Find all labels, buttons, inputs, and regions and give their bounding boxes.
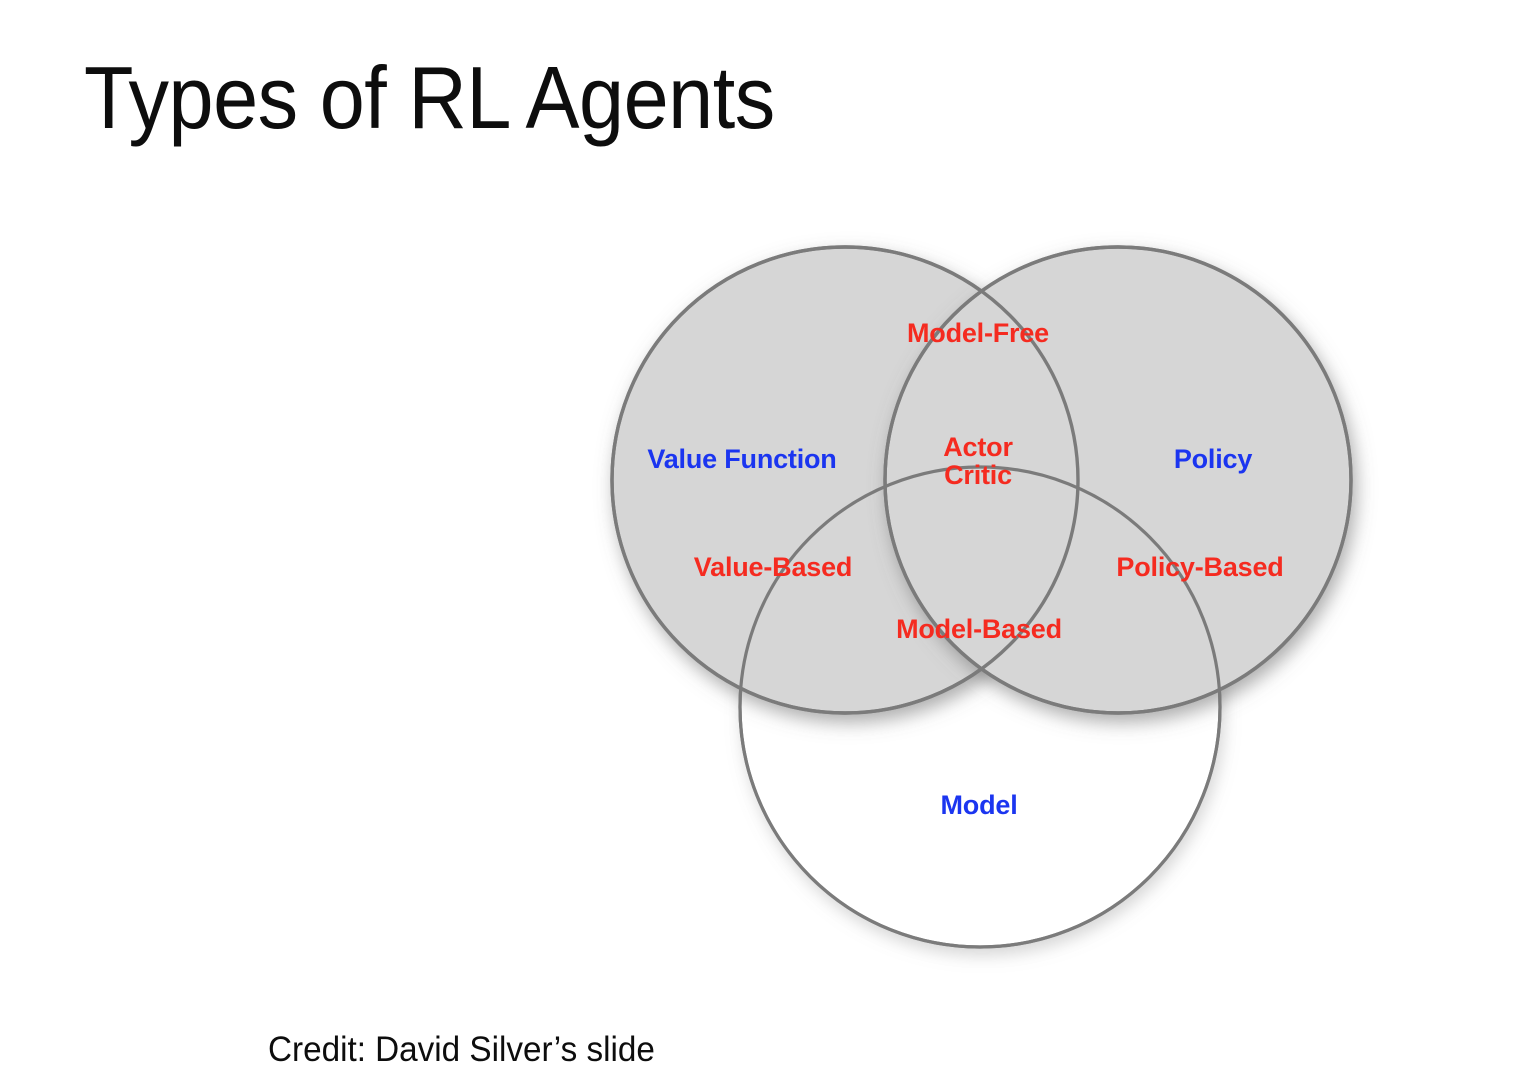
venn-label-actor-critic: ActorCritic [943,434,1013,490]
venn-label-policy-based: Policy-Based [1116,554,1283,582]
venn-label-model-free: Model-Free [907,320,1049,348]
credit-text: Credit: David Silver’s slide [268,1030,655,1070]
venn-diagram: Value Function Policy Model Model-Free A… [560,200,1420,1000]
venn-label-model: Model [941,792,1018,820]
slide-canvas: Types of RL Agents Value Function [0,0,1540,1074]
page-title: Types of RL Agents [84,52,775,144]
venn-label-value-function: Value Function [647,446,836,474]
venn-label-model-based: Model-Based [896,616,1062,644]
venn-label-policy: Policy [1174,446,1252,474]
venn-label-value-based: Value-Based [694,554,852,582]
